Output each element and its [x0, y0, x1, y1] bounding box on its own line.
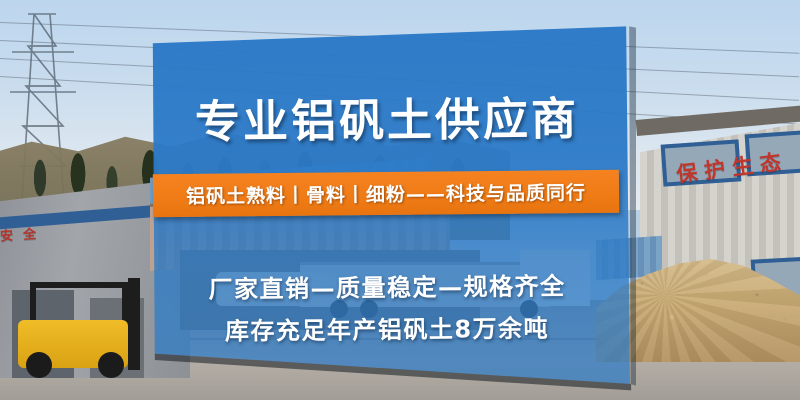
banner-subline-1: 厂家直销—质量稳定—规格齐全: [0, 264, 787, 307]
ribbon-text: 铝矾土熟料丨骨料丨细粉——科技与品质同行: [153, 170, 619, 217]
banner-headline: 专业铝矾土供应商: [0, 81, 787, 153]
banner-content: 专业铝矾土供应商 铝矾土熟料丨骨料丨细粉——科技与品质同行 厂家直销—质量稳定—…: [0, 0, 800, 400]
banner-subline-2: 库存充足年产铝矾土8万余吨: [0, 306, 787, 349]
orange-ribbon: 铝矾土熟料丨骨料丨细粉——科技与品质同行: [153, 170, 619, 217]
banner-stage: 安全 保护生态 专业: [0, 0, 800, 400]
